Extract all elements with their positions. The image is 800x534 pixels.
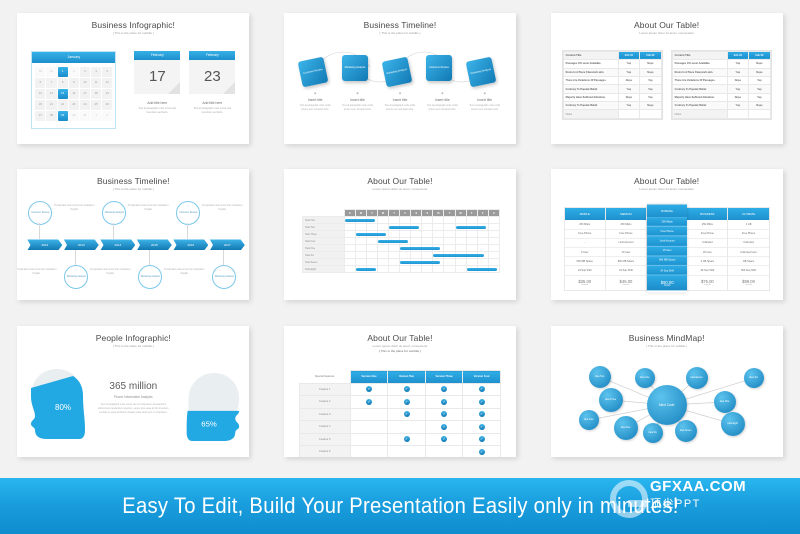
timeline-circle-top[interactable]: Customer Review	[28, 201, 52, 225]
pricing-feature: 10 User	[606, 248, 646, 257]
gantt-bar[interactable]	[433, 254, 483, 257]
feature-check-cell: ✓	[388, 396, 426, 409]
calendar-day[interactable]: 31	[46, 67, 56, 77]
timeline-bottom-text: Perspiciatis unde omnis iste voluptatem …	[89, 269, 131, 276]
pricing-footer[interactable]: $75.00/month	[687, 276, 727, 290]
gantt-day-header: T	[366, 210, 377, 217]
gantt-cell	[433, 217, 444, 224]
pricing-feature: Free Phone	[606, 230, 646, 239]
gantt-cell	[444, 259, 455, 266]
timeline-connector	[149, 250, 150, 265]
pricing-feature: Unlimited	[728, 239, 768, 248]
gantt-row: Task Seven	[302, 259, 499, 266]
pricing-plan-name: MEDIUM	[606, 208, 646, 220]
gantt-cell	[344, 238, 355, 245]
gantt-cell	[477, 217, 488, 224]
gantt-day-header: F	[400, 210, 411, 217]
pricing-period: /month	[664, 285, 671, 287]
calendar-day[interactable]: 9	[69, 78, 79, 88]
feature-check-cell: ✓	[425, 433, 463, 446]
gantt-cell	[488, 231, 499, 238]
gantt-cell	[366, 224, 377, 231]
feature-label: Feature 2	[299, 396, 350, 409]
check-icon: ✓	[441, 411, 447, 417]
slide-cell-1: Business Infographic! ( This is the plac…	[0, 0, 267, 157]
date-card-2[interactable]: February 23 Add title here Text at parag…	[189, 51, 235, 115]
mindmap-node[interactable]: Idea Three	[599, 388, 623, 412]
timeline-node[interactable]: Customer Review	[426, 55, 452, 81]
gantt-cell	[466, 231, 477, 238]
feature-comparison-table[interactable]: Special FeaturesVersion OneVersion TwoVe…	[299, 370, 501, 457]
gantt-cell	[477, 238, 488, 245]
timeline-circle-top[interactable]: Customer Review	[176, 201, 200, 225]
calendar-day[interactable]: 1	[91, 111, 101, 121]
gantt-task-label: Task Two	[302, 224, 344, 231]
feature-check-cell: ✓	[350, 396, 388, 409]
feature-check-cell: ✓	[425, 408, 463, 421]
gantt-task-label: Task Four	[302, 238, 344, 245]
mindmap-node[interactable]: Idea Two	[589, 366, 611, 388]
gantt-cell	[477, 259, 488, 266]
mindmap-node[interactable]: Idea Nine	[714, 391, 736, 413]
pricing-plan-name: BUSINESS	[687, 208, 727, 220]
page-subtitle: Lorem ipsum dolor sit amet, consectetur	[551, 187, 783, 191]
feature-label: Feature 3	[299, 408, 350, 421]
mindmap-node[interactable]: Idea Eleven	[686, 367, 708, 389]
gantt-bar[interactable]	[356, 268, 376, 271]
gantt-cell	[444, 238, 455, 245]
page-subtitle: Lorem ipsum dolor sit amet, consectetur	[551, 31, 783, 35]
gantt-cell	[433, 238, 444, 245]
calendar-day[interactable]: 11	[91, 78, 101, 88]
gantt-cell	[444, 217, 455, 224]
gantt-cell	[389, 266, 400, 273]
pricing-footer[interactable]: $35.00/month	[565, 276, 605, 290]
pricing-footer[interactable]: $99.00/month	[728, 276, 768, 290]
table-cell-label: Majority Have Suffered Alteration.	[563, 93, 618, 101]
check-icon: ✓	[441, 399, 447, 405]
feature-row: Feature 5✓✓✓	[299, 433, 500, 446]
pricing-feature: 250 Mbps	[565, 220, 605, 229]
timeline-year-arrow[interactable]: 2013	[64, 239, 99, 250]
calendar-day[interactable]: 25	[91, 100, 101, 110]
calendar-day[interactable]: 17	[80, 89, 90, 99]
calendar-day[interactable]: 5	[102, 67, 112, 77]
check-icon: ✓	[479, 436, 485, 442]
timeline-circle-bottom[interactable]: Marketing Analysis	[212, 265, 236, 289]
gantt-cell	[444, 245, 455, 252]
feature-version-header: Version One	[350, 371, 388, 384]
timeline-connector	[223, 250, 224, 265]
gantt-row: Task Eight	[302, 266, 499, 273]
gantt-day-header: F	[477, 210, 488, 217]
feature-check-cell: ✓	[388, 408, 426, 421]
slide-business-mindmap[interactable]: Business MindMap! ( This is the place fo…	[551, 326, 783, 457]
feature-label: Feature 6	[299, 446, 350, 458]
calendar-day[interactable]: 2	[69, 67, 79, 77]
table-cell-value: Yup	[640, 76, 662, 84]
timeline-node[interactable]: Marketing Analysis	[382, 56, 413, 87]
table-cell-value: Nope	[640, 68, 662, 76]
slide-about-our-table-gantt[interactable]: About Our Table! Lorem ipsum dolor sit a…	[284, 169, 516, 300]
calendar-day[interactable]: 21	[46, 100, 56, 110]
slide-cell-2: Business Timeline! ( This is the place f…	[267, 0, 534, 157]
calendar-day[interactable]: 12	[102, 78, 112, 88]
gantt-day-header: M	[355, 210, 366, 217]
slide-about-our-table-yesno[interactable]: About Our Table! Lorem ipsum dolor sit a…	[551, 13, 783, 144]
gantt-cell	[422, 224, 433, 231]
gantt-day-header: T	[466, 210, 477, 217]
page-subtitle: ( This is the place for subtitle )	[284, 31, 516, 35]
gantt-day-header: S	[411, 210, 422, 217]
gantt-cell	[400, 245, 411, 252]
mindmap-node[interactable]: Idea Seven	[675, 420, 697, 442]
stat-block: 365 million Phone Information Analysis T…	[95, 381, 171, 415]
table-cell-value: Nope	[640, 60, 662, 68]
gantt-cell	[378, 238, 389, 245]
check-icon: ✓	[441, 436, 447, 442]
page-title: About Our Table!	[284, 176, 516, 186]
gantt-cell	[400, 231, 411, 238]
feature-check-cell: ✓	[425, 383, 463, 396]
pricing-feature: 20 User	[687, 248, 727, 257]
table-header-cell: Info 01	[727, 51, 749, 59]
timeline-connector	[187, 223, 188, 239]
timeline-dot-icon: ◆	[467, 91, 503, 95]
page-title: Business MindMap!	[551, 333, 783, 343]
info-table-left[interactable]: Content TitleInfo 01Info 02Passages Of L…	[562, 50, 663, 120]
gantt-bar[interactable]	[389, 226, 419, 229]
page-subtitle: ( This is the place for subtitle )	[17, 187, 249, 191]
feature-check-cell: ✓	[425, 421, 463, 434]
table-cell-label: Contrary To Popular Belief.	[563, 85, 618, 93]
gantt-cell	[455, 266, 466, 273]
gantt-cell	[422, 266, 433, 273]
timeline-node[interactable]: Customer Review	[298, 56, 329, 87]
timeline-caption: ◆Insert titleText at paragraph unde omli…	[379, 91, 421, 111]
slide-cell-6: About Our Table! Lorem ipsum dolor sit a…	[533, 157, 800, 314]
gantt-day-header: T	[444, 210, 455, 217]
watermark-title: GFXAA.COM	[650, 478, 746, 495]
timeline-top-text: Perspiciatis unde omnis iste voluptatem …	[53, 205, 95, 212]
calendar-day[interactable]: 18	[91, 89, 101, 99]
gantt-cell	[400, 217, 411, 224]
gantt-cell	[466, 238, 477, 245]
table-cell-label: Roots In A Piece Classical Latin.	[563, 68, 618, 76]
table-header-cell: Content Title	[672, 51, 727, 59]
table-row: Roots In A Piece Classical Latin.YupNope	[563, 68, 661, 76]
gantt-cell	[433, 252, 444, 259]
feature-version-header: Version Two	[388, 371, 426, 384]
mindmap-center-node[interactable]: Mind Code	[647, 385, 687, 425]
gantt-cell	[488, 224, 499, 231]
table-footer-row: Notes	[672, 110, 770, 118]
calendar-day[interactable]: 29	[58, 111, 68, 121]
gantt-cell	[366, 252, 377, 259]
gantt-cell	[455, 231, 466, 238]
timeline-top-text: Perspiciatis unde omnis iste voluptatem …	[127, 205, 169, 212]
calendar-day[interactable]: 3	[80, 67, 90, 77]
timeline-bottom-text: Perspiciatis unde omnis iste voluptatem …	[17, 269, 57, 276]
gantt-row: Task Five	[302, 245, 499, 252]
table-row: There Are Variations Of Passages.NopeYup	[563, 76, 661, 84]
calendar-day[interactable]: 24	[80, 100, 90, 110]
gantt-cell	[400, 266, 411, 273]
gantt-cell	[378, 217, 389, 224]
table-cell-label: Passages Of Lorem Available.	[672, 60, 727, 68]
feature-check-cell	[388, 421, 426, 434]
table-cell-value: Yup	[727, 102, 749, 110]
mindmap-node[interactable]: Idea Five	[614, 416, 638, 440]
slide-business-infographic[interactable]: Business Infographic! ( This is the plac…	[17, 13, 249, 144]
gantt-cell	[466, 217, 477, 224]
gantt-cell	[411, 238, 422, 245]
timeline-year-arrow[interactable]: 2014	[100, 239, 135, 250]
calendar-day[interactable]: 23	[69, 100, 79, 110]
table-cell-value: Yup	[640, 93, 662, 101]
pricing-feature: Free Phone	[728, 230, 768, 239]
date-card-title: Add title here	[189, 101, 235, 105]
gantt-bar[interactable]	[456, 226, 486, 229]
slide-about-our-table-pricing[interactable]: About Our Table! Lorem ipsum dolor sit a…	[551, 169, 783, 300]
pricing-plan-name: ULTIMATE	[728, 208, 768, 220]
slide-cell-7: People Infographic! ( This is the place …	[0, 313, 267, 470]
gantt-cell	[378, 245, 389, 252]
gantt-cell	[455, 217, 466, 224]
gantt-cell	[366, 259, 377, 266]
gantt-cell	[378, 259, 389, 266]
check-icon: ✓	[404, 386, 410, 392]
feature-row: Feature 2✓✓✓✓	[299, 396, 500, 409]
table-cell-value: Yup	[618, 102, 640, 110]
table-footer-row: Notes	[563, 110, 661, 118]
gantt-day-header: S	[488, 210, 499, 217]
timeline-caption-body: Text at paragraph unde omlis proem eum s…	[382, 104, 418, 111]
table-cell-label: Majority Have Suffered Alteration.	[672, 93, 727, 101]
page-subtitle-secondary: ( This is the place for subtitle )	[284, 349, 516, 353]
gantt-chart[interactable]: SMTWTFSSMTWTFSTask OneTask TwoTask Three…	[302, 209, 500, 273]
timeline-circle-bottom[interactable]: Marketing Analysis	[138, 265, 162, 289]
mindmap-node[interactable]: Idea Six	[643, 423, 663, 443]
info-table-right[interactable]: Content TitleInfo 01Info 02Passages Of L…	[671, 50, 772, 120]
table-cell-label: Passages Of Lorem Available.	[563, 60, 618, 68]
page-subtitle: ( This is the place for subtitle )	[551, 344, 783, 348]
timeline-node[interactable]: Marketing Analysis	[342, 55, 368, 81]
calendar-day[interactable]: 10	[80, 78, 90, 88]
promo-banner: Easy To Edit, Build Your Presentation Ea…	[0, 478, 800, 534]
feature-check-cell: ✓	[388, 383, 426, 396]
timeline-year-arrow[interactable]: 2017	[210, 239, 245, 250]
table-cell-value: Nope	[727, 76, 749, 84]
head-silhouette-left-icon: 80%	[25, 366, 97, 442]
check-icon: ✓	[479, 386, 485, 392]
calendar-days-grid[interactable]: 3031123456789101112131415161718192021222…	[32, 63, 115, 125]
timeline-caption: ◆Insert titleText at paragraph unde omli…	[294, 91, 336, 111]
gantt-cell	[344, 252, 355, 259]
gantt-task-label: Task One	[302, 217, 344, 224]
pricing-feature: 2 GB Space	[687, 257, 727, 266]
date-card-1[interactable]: February 17 Add title here Text at parag…	[134, 51, 180, 115]
calendar-day[interactable]: 15	[58, 89, 68, 99]
calendar-day[interactable]: 13	[35, 89, 45, 99]
gantt-cell	[488, 259, 499, 266]
calendar-day[interactable]: 1	[58, 67, 68, 77]
gantt-cell	[488, 217, 499, 224]
gantt-row: Task Two	[302, 224, 499, 231]
calendar-day[interactable]: 27	[35, 111, 45, 121]
calendar-day[interactable]: 31	[80, 111, 90, 121]
table-row: Majority Have Suffered Alteration.NopeYu…	[563, 93, 661, 101]
timeline-caption-title: Insert title	[382, 98, 418, 102]
pricing-feature: Unlimited User	[728, 248, 768, 257]
check-icon: ✓	[479, 411, 485, 417]
check-icon: ✓	[479, 424, 485, 430]
gantt-bar[interactable]	[400, 261, 440, 264]
arrow-timeline[interactable]: 201220132014201520162017Customer ReviewP…	[17, 197, 249, 297]
mindmap-canvas[interactable]: Mind CodeIdea TwoIdea OneIdea ElevenIdea…	[551, 360, 783, 455]
gantt-task-label: Task Three	[302, 231, 344, 238]
pricing-plan[interactable]: ULTIMATE1 GBFree PhoneUnlimitedUnlimited…	[728, 207, 769, 290]
gantt-cell	[411, 217, 422, 224]
gantt-cell	[466, 245, 477, 252]
pricing-plan[interactable]: BUSINESS250 MbpsFree PhoneUnlimited20 Us…	[687, 207, 728, 290]
gantt-day-header: W	[378, 210, 389, 217]
watermark-subtitle: 顶尖PPT	[650, 495, 701, 511]
calendar-day[interactable]: 30	[69, 111, 79, 121]
table-cell-label: There Are Variations Of Passages.	[672, 76, 727, 84]
timeline-year-arrow[interactable]: 2015	[137, 239, 172, 250]
mindmap-node[interactable]: Idea Ten	[744, 368, 764, 388]
feature-corner-label: Special Features	[299, 371, 350, 384]
calendar-day[interactable]: 26	[102, 100, 112, 110]
calendar-day[interactable]: 8	[58, 78, 68, 88]
mindmap-node[interactable]: Idea Four	[579, 410, 599, 430]
table-pair: Content TitleInfo 01Info 02Passages Of L…	[562, 50, 772, 120]
timeline-year-arrow[interactable]: 2016	[173, 239, 208, 250]
pricing-feature: 500 MB Space	[565, 257, 605, 266]
slide-cell-3: About Our Table! Lorem ipsum dolor sit a…	[533, 0, 800, 157]
pricing-footer[interactable]: $45.00/month	[606, 276, 646, 290]
timeline-year-arrow[interactable]: 2012	[27, 239, 62, 250]
calendar-day[interactable]: 28	[46, 111, 56, 121]
pricing-footer[interactable]: $60.00/month	[647, 276, 687, 291]
page-title: Business Infographic!	[17, 20, 249, 30]
pricing-feature: -	[565, 239, 605, 248]
feature-check-cell	[350, 408, 388, 421]
slide-about-our-table-features[interactable]: About Our Table! Lorem ipsum dolor sit a…	[284, 326, 516, 457]
feature-check-cell: ✓	[425, 396, 463, 409]
timeline-dot-icon: ◆	[339, 91, 375, 95]
timeline-caption-body: Text at paragraph unde omlis proem eum s…	[297, 104, 333, 111]
timeline-diamond-row[interactable]: Customer ReviewMarketing AnalysisMarketi…	[294, 53, 506, 87]
calendar-day[interactable]: 20	[35, 100, 45, 110]
gantt-cell	[444, 231, 455, 238]
slide-business-timeline-arrows[interactable]: Business Timeline! ( This is the place f…	[17, 169, 249, 300]
timeline-node[interactable]: Marketing Analysis	[466, 56, 497, 87]
table-cell-value: Yup	[749, 93, 771, 101]
pricing-table[interactable]: SIMPLE250 MbpsFree Phone-5 User500 MB Sp…	[564, 207, 770, 290]
slide-cell-4: Business Timeline! ( This is the place f…	[0, 157, 267, 314]
calendar-day[interactable]: 7	[46, 78, 56, 88]
gantt-cell	[355, 238, 366, 245]
calendar-day[interactable]: 30	[35, 67, 45, 77]
gantt-cell	[466, 259, 477, 266]
feature-row: Feature 4✓✓	[299, 421, 500, 434]
calendar-day[interactable]: 6	[35, 78, 45, 88]
calendar-day[interactable]: 4	[91, 67, 101, 77]
slide-business-timeline-diamonds[interactable]: Business Timeline! ( This is the place f…	[284, 13, 516, 144]
gantt-row: Task One	[302, 217, 499, 224]
timeline-caption-body: Text at paragraph unde omlis proem eum s…	[339, 104, 375, 111]
gantt-row: Task Six	[302, 252, 499, 259]
table-cell-value: Yup	[749, 76, 771, 84]
pricing-plan-name: SIMPLE	[565, 208, 605, 220]
calendar-day[interactable]: 16	[69, 89, 79, 99]
gantt-cell	[344, 245, 355, 252]
table-header-cell: Info 01	[618, 51, 640, 59]
gantt-bar[interactable]	[467, 268, 497, 271]
page-subtitle: ( This is the place for subtitle )	[17, 344, 249, 348]
table-cell-value: Yup	[618, 68, 640, 76]
pricing-plan[interactable]: NORMAL250 MbpsFree PhoneLimit Account15 …	[647, 205, 687, 293]
gantt-cell	[455, 224, 466, 231]
timeline-circle-top[interactable]: Marketing Analysis	[102, 201, 126, 225]
calendar-day[interactable]: 19	[102, 89, 112, 99]
timeline-connector	[113, 223, 114, 239]
gantt-bar[interactable]	[356, 233, 386, 236]
feature-version-header: Version Three	[425, 371, 463, 384]
gantt-bar[interactable]	[378, 240, 408, 243]
calendar-month-label: January	[32, 52, 115, 63]
calendar-day[interactable]: 14	[46, 89, 56, 99]
gantt-cell	[344, 259, 355, 266]
timeline-caption: ◆Insert titleText at paragraph unde omli…	[336, 91, 378, 111]
gantt-cell	[389, 231, 400, 238]
calendar-day[interactable]: 22	[58, 100, 68, 110]
gantt-cell	[411, 266, 422, 273]
check-icon: ✓	[404, 411, 410, 417]
table-header-cell: Info 02	[749, 51, 771, 59]
pricing-feature: 24 Sup Shift	[606, 266, 646, 275]
right-percent-label: 65%	[202, 420, 218, 429]
pricing-plan[interactable]: SIMPLE250 MbpsFree Phone-5 User500 MB Sp…	[564, 207, 606, 290]
gantt-cell	[389, 252, 400, 259]
pricing-feature: 24 Sup Shift	[565, 266, 605, 275]
slide-people-infographic[interactable]: People Infographic! ( This is the place …	[17, 326, 249, 457]
pricing-plan[interactable]: MEDIUM250 MbpsFree PhoneLimit Account10 …	[606, 207, 647, 290]
gantt-cell	[389, 245, 400, 252]
feature-check-cell	[425, 446, 463, 458]
feature-row: Feature 1✓✓✓✓	[299, 383, 500, 396]
gantt-day-header: M	[433, 210, 444, 217]
timeline-circle-bottom[interactable]: Marketing Analysis	[64, 265, 88, 289]
feature-check-cell	[388, 446, 426, 458]
gantt-bar[interactable]	[400, 247, 440, 250]
gantt-bar[interactable]	[345, 219, 375, 222]
timeline-caption-title: Insert title	[467, 98, 503, 102]
table-cell-value: Nope	[749, 68, 771, 76]
stat-paragraph: Text at paragraph unde omnis iste sit vo…	[95, 403, 171, 415]
pricing-feature: Free Phone	[565, 230, 605, 239]
table-notes-cell: Notes	[672, 110, 727, 118]
mindmap-node[interactable]: Idea Eight	[721, 412, 745, 436]
pricing-period: /month	[581, 284, 588, 286]
mindmap-node[interactable]: Idea One	[635, 368, 655, 388]
calendar-day[interactable]: 2	[102, 111, 112, 121]
gantt-cell	[422, 231, 433, 238]
table-cell-value: Nope	[749, 102, 771, 110]
calendar-widget[interactable]: January 30311234567891011121314151617181…	[31, 51, 116, 129]
